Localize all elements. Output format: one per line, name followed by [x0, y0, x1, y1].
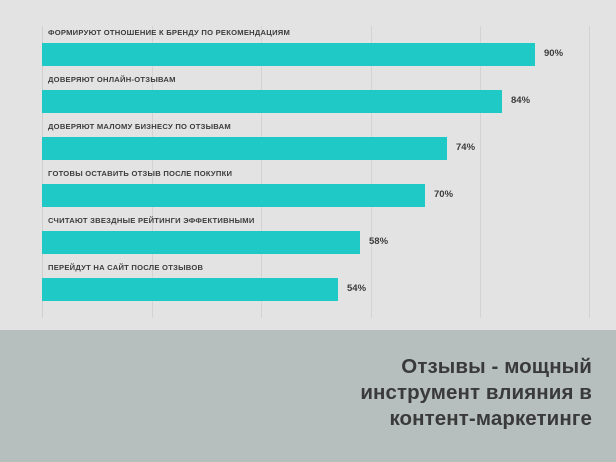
chart-row: ДОВЕРЯЮТ МАЛОМУ БИЗНЕСУ ПО ОТЗЫВАМ 74% — [42, 120, 590, 167]
bar-track: 58% — [42, 231, 590, 254]
bar-category-label: ДОВЕРЯЮТ ОНЛАЙН-ОТЗЫВАМ — [48, 73, 176, 86]
chart-area: ФОРМИРУЮТ ОТНОШЕНИЕ К БРЕНДУ ПО РЕКОМЕНД… — [0, 0, 616, 330]
bar-value-label: 84% — [511, 95, 530, 106]
bar-category-label: ГОТОВЫ ОСТАВИТЬ ОТЗЫВ ПОСЛЕ ПОКУПКИ — [48, 167, 232, 180]
chart-row: ДОВЕРЯЮТ ОНЛАЙН-ОТЗЫВАМ 84% — [42, 73, 590, 120]
bar-4[interactable] — [42, 231, 360, 254]
footer-title-line-3: контент-маркетинге — [172, 406, 592, 432]
footer-banner: Отзывы - мощный инструмент влияния в кон… — [0, 330, 616, 462]
bar-value-label: 74% — [456, 142, 475, 153]
bar-value-label: 70% — [434, 189, 453, 200]
bar-category-label: ФОРМИРУЮТ ОТНОШЕНИЕ К БРЕНДУ ПО РЕКОМЕНД… — [48, 26, 290, 39]
bar-category-label: ДОВЕРЯЮТ МАЛОМУ БИЗНЕСУ ПО ОТЗЫВАМ — [48, 120, 231, 133]
bar-2[interactable] — [42, 137, 447, 160]
bar-track: 74% — [42, 137, 590, 160]
bar-category-label: ПЕРЕЙДУТ НА САЙТ ПОСЛЕ ОТЗЫВОВ — [48, 261, 203, 274]
bar-3[interactable] — [42, 184, 425, 207]
bar-value-label: 90% — [544, 48, 563, 59]
bar-5[interactable] — [42, 278, 338, 301]
bar-category-label: СЧИТАЮТ ЗВЕЗДНЫЕ РЕЙТИНГИ ЭФФЕКТИВНЫМИ — [48, 214, 255, 227]
footer-title-line-1: Отзывы - мощный — [172, 354, 592, 380]
bar-value-label: 54% — [347, 283, 366, 294]
bar-track: 90% — [42, 43, 590, 66]
bar-track: 54% — [42, 278, 590, 301]
bar-value-label: 58% — [369, 236, 388, 247]
chart-row: СЧИТАЮТ ЗВЕЗДНЫЕ РЕЙТИНГИ ЭФФЕКТИВНЫМИ 5… — [42, 214, 590, 261]
bar-0[interactable] — [42, 43, 535, 66]
bar-chart-plot: ФОРМИРУЮТ ОТНОШЕНИЕ К БРЕНДУ ПО РЕКОМЕНД… — [42, 26, 590, 318]
chart-row: ГОТОВЫ ОСТАВИТЬ ОТЗЫВ ПОСЛЕ ПОКУПКИ 70% — [42, 167, 590, 214]
bar-1[interactable] — [42, 90, 502, 113]
chart-row: ПЕРЕЙДУТ НА САЙТ ПОСЛЕ ОТЗЫВОВ 54% — [42, 261, 590, 308]
chart-row: ФОРМИРУЮТ ОТНОШЕНИЕ К БРЕНДУ ПО РЕКОМЕНД… — [42, 26, 590, 73]
footer-title: Отзывы - мощный инструмент влияния в кон… — [172, 354, 592, 432]
bar-track: 84% — [42, 90, 590, 113]
footer-title-line-2: инструмент влияния в — [172, 380, 592, 406]
bar-track: 70% — [42, 184, 590, 207]
